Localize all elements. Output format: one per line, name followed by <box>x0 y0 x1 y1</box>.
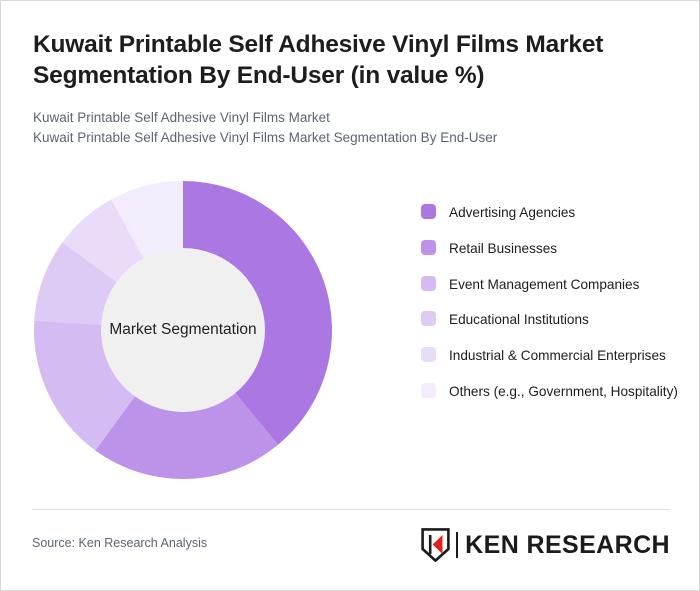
legend-item[interactable]: Retail Businesses <box>421 239 683 258</box>
legend-item[interactable]: Event Management Companies <box>421 275 683 294</box>
chart-footer: Source: Ken Research Analysis KEN RESEAR… <box>32 526 670 570</box>
subtitle-block: Kuwait Printable Self Adhesive Vinyl Fil… <box>33 108 653 149</box>
chart-legend: Advertising AgenciesRetail BusinessesEve… <box>421 203 683 418</box>
brand-name: KEN RESEARCH <box>465 531 670 560</box>
brand-logo: KEN RESEARCH <box>421 526 670 564</box>
chart-subtitle-primary: Kuwait Printable Self Adhesive Vinyl Fil… <box>33 108 653 128</box>
donut-svg <box>34 181 332 479</box>
donut-chart: Market Segmentation <box>34 181 332 479</box>
page-title: Kuwait Printable Self Adhesive Vinyl Fil… <box>33 29 653 92</box>
legend-label: Advertising Agencies <box>449 203 575 222</box>
chart-area: Market Segmentation Advertising Agencies… <box>1 171 700 501</box>
legend-swatch <box>421 276 436 291</box>
legend-label: Event Management Companies <box>449 275 639 294</box>
legend-item[interactable]: Others (e.g., Government, Hospitality) <box>421 382 683 401</box>
legend-item[interactable]: Industrial & Commercial Enterprises <box>421 346 683 365</box>
chart-header: Kuwait Printable Self Adhesive Vinyl Fil… <box>33 29 653 148</box>
chart-page: Kuwait Printable Self Adhesive Vinyl Fil… <box>0 0 700 591</box>
source-note: Source: Ken Research Analysis <box>32 536 207 550</box>
donut-hole <box>101 248 265 412</box>
legend-swatch <box>421 383 436 398</box>
legend-label: Educational Institutions <box>449 310 589 329</box>
legend-swatch <box>421 347 436 362</box>
legend-swatch <box>421 311 436 326</box>
legend-swatch <box>421 204 436 219</box>
legend-label: Industrial & Commercial Enterprises <box>449 346 666 365</box>
ken-research-shield-icon <box>421 528 450 562</box>
legend-item[interactable]: Advertising Agencies <box>421 203 683 222</box>
legend-item[interactable]: Educational Institutions <box>421 310 683 329</box>
footer-divider <box>32 509 670 510</box>
legend-swatch <box>421 240 436 255</box>
legend-label: Others (e.g., Government, Hospitality) <box>449 382 678 401</box>
chart-subtitle-secondary: Kuwait Printable Self Adhesive Vinyl Fil… <box>33 128 653 148</box>
brand-separator <box>456 532 458 558</box>
legend-label: Retail Businesses <box>449 239 557 258</box>
